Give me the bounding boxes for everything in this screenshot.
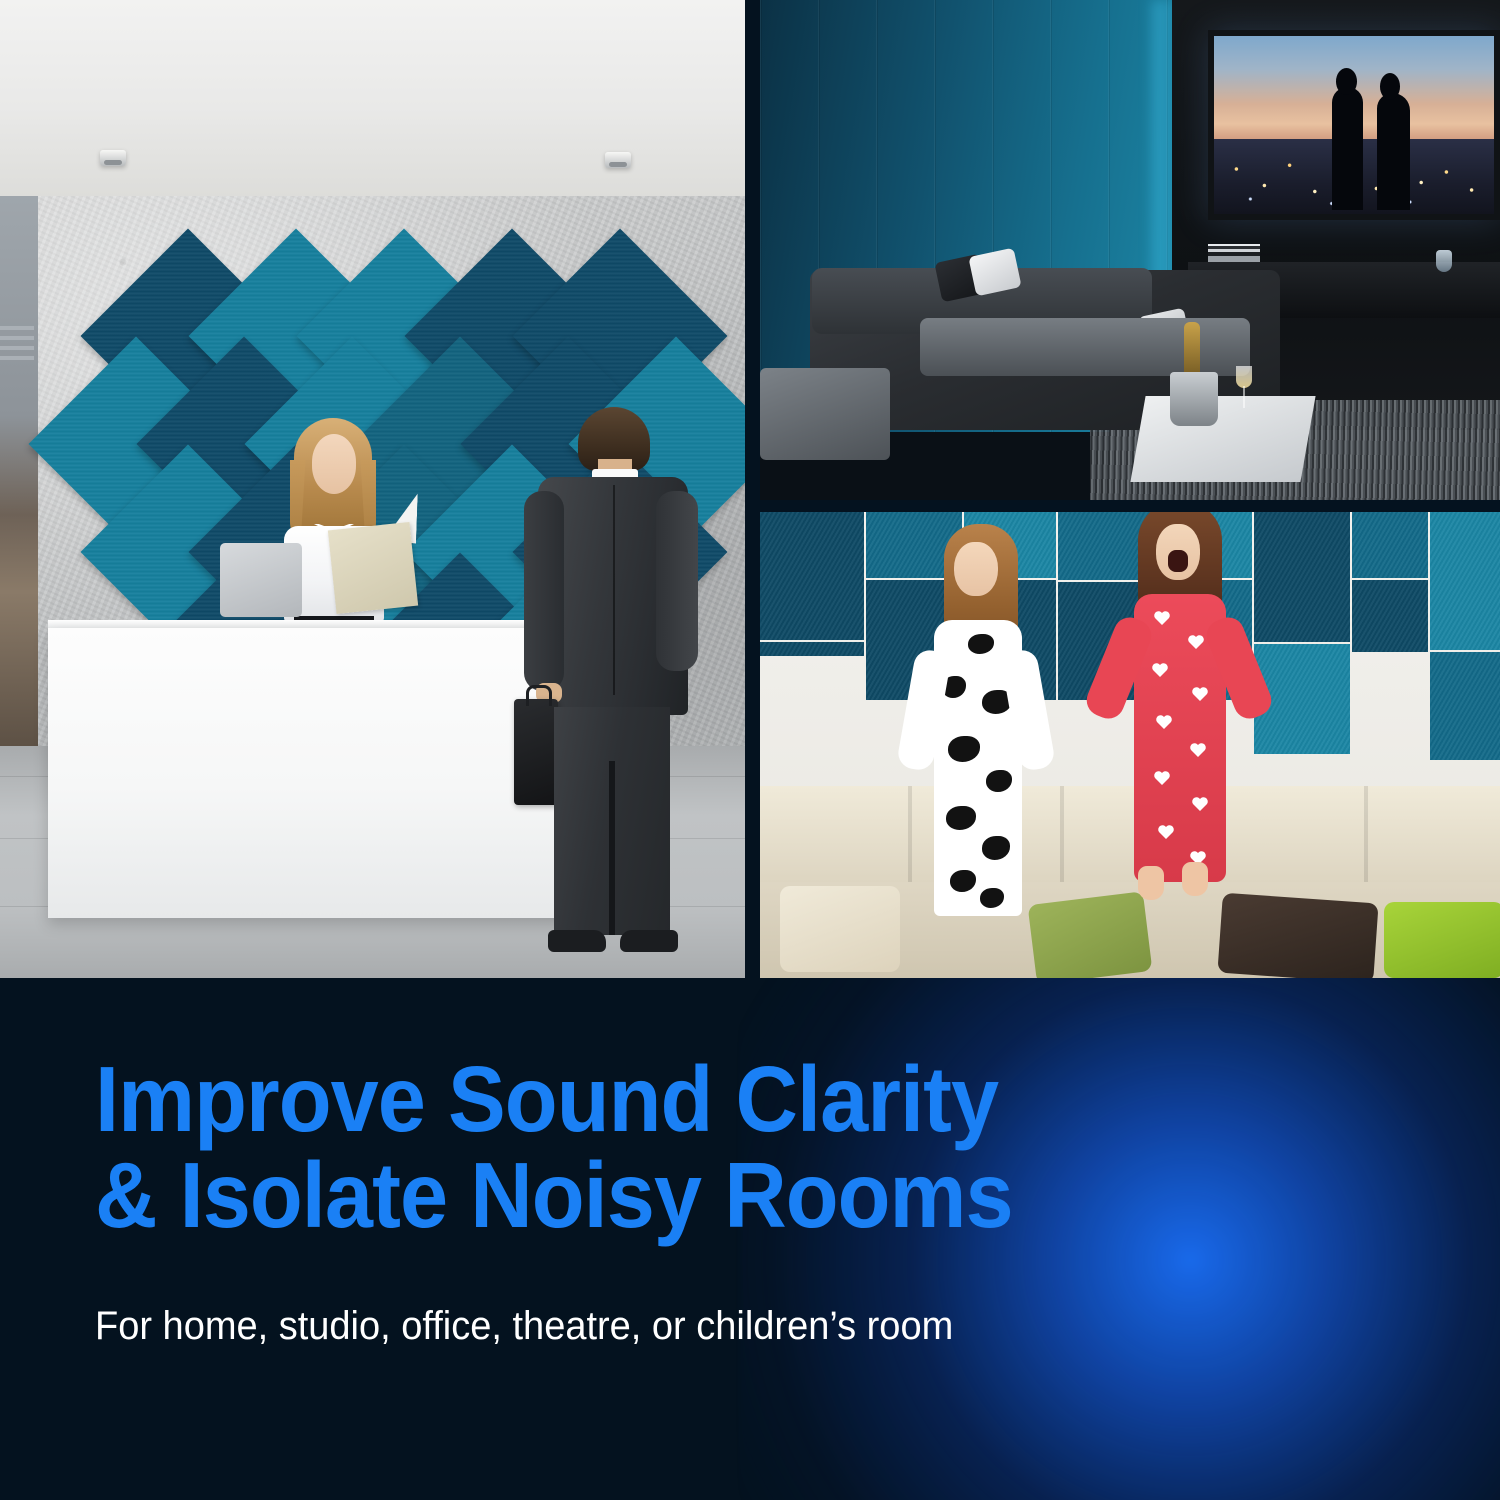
girl-cow-pajamas bbox=[910, 524, 1040, 916]
subheadline: For home, studio, office, theatre, or ch… bbox=[95, 1302, 1392, 1350]
pillow bbox=[1384, 902, 1500, 978]
pillow bbox=[1028, 891, 1153, 978]
ceiling bbox=[0, 0, 745, 196]
pillow bbox=[1217, 893, 1378, 978]
glass-vase bbox=[1436, 250, 1452, 272]
home-theatre-photo bbox=[760, 0, 1500, 500]
girl-heart-pajamas bbox=[1110, 512, 1246, 882]
couple-silhouette bbox=[1332, 82, 1410, 210]
banner-text-block: Improve Sound Clarity & Isolate Noisy Ro… bbox=[95, 1052, 1460, 1350]
sofa-seat bbox=[920, 318, 1250, 376]
notebook bbox=[328, 522, 418, 614]
wine-glass bbox=[1236, 366, 1252, 410]
projector-screen bbox=[1208, 30, 1500, 220]
stacked-books bbox=[1208, 244, 1260, 262]
pillow bbox=[780, 886, 900, 972]
photo-collage bbox=[0, 0, 1500, 978]
office-reception-photo bbox=[0, 0, 745, 978]
children-room-photo bbox=[760, 512, 1500, 978]
headline-line-1: Improve Sound Clarity bbox=[95, 1052, 1364, 1148]
briefcase bbox=[514, 699, 558, 805]
ice-bucket bbox=[1170, 372, 1218, 426]
headline-line-2: & Isolate Noisy Rooms bbox=[95, 1148, 1364, 1244]
ottoman bbox=[760, 368, 890, 460]
wall-vent bbox=[0, 326, 34, 330]
side-wall bbox=[0, 196, 40, 746]
ceiling-light-icon bbox=[100, 150, 126, 166]
product-image-sheet: Improve Sound Clarity & Isolate Noisy Ro… bbox=[0, 0, 1500, 1500]
ceiling-light-icon bbox=[605, 152, 631, 168]
marble-side-table bbox=[1130, 396, 1315, 482]
businessman bbox=[520, 407, 700, 952]
laptop bbox=[214, 543, 306, 631]
marketing-banner: Improve Sound Clarity & Isolate Noisy Ro… bbox=[0, 978, 1500, 1500]
